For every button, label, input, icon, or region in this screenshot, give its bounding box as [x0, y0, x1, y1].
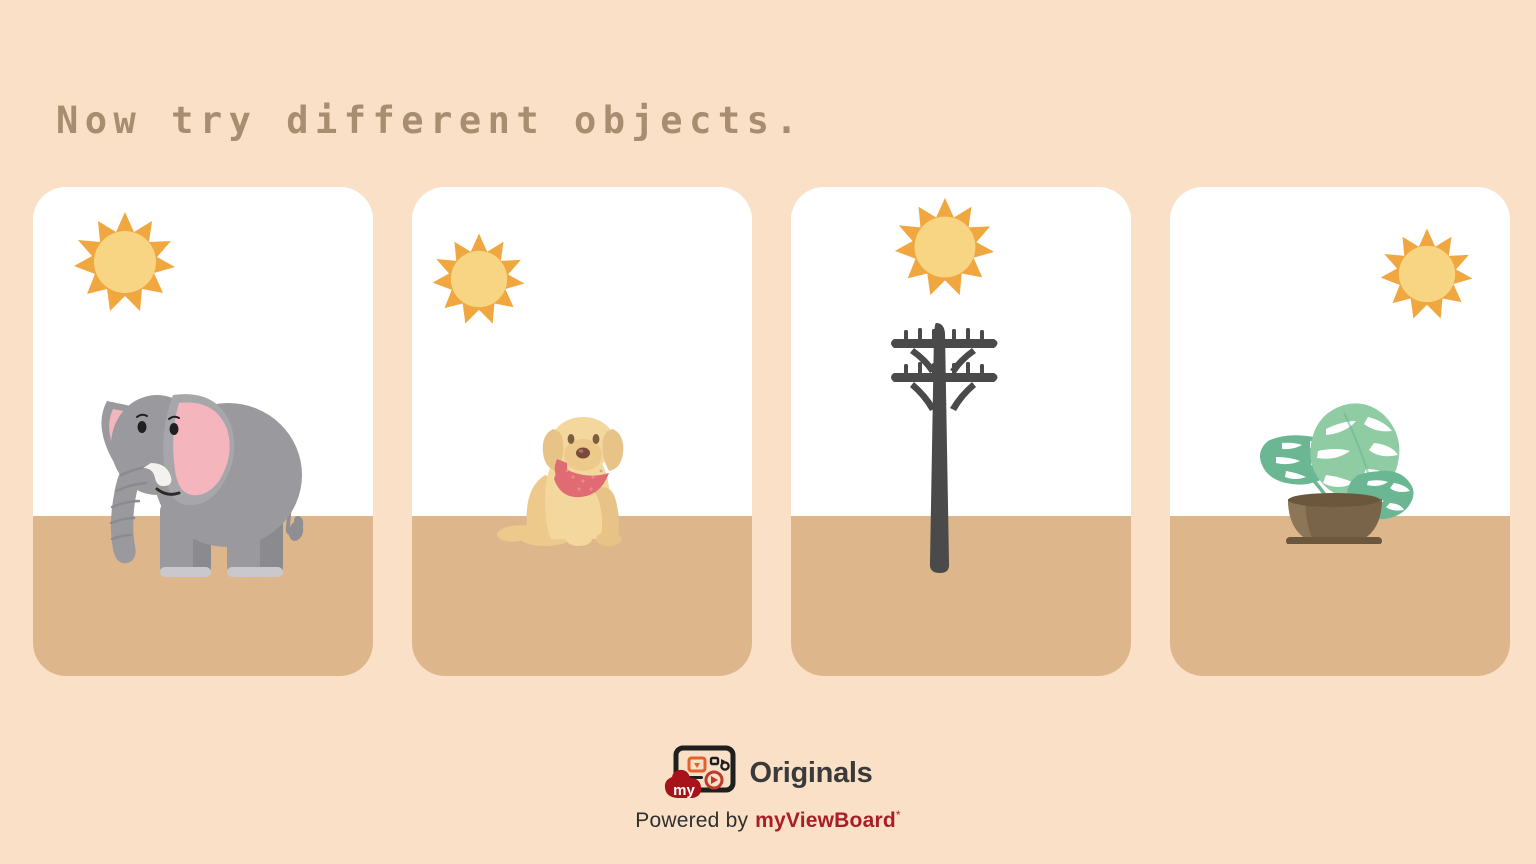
powered-by-label: Powered by [635, 809, 748, 833]
card-elephant[interactable] [33, 187, 373, 676]
object-card-list [33, 187, 1503, 676]
elephant-illustration [95, 383, 310, 578]
sun-icon [429, 229, 529, 329]
card-dog[interactable] [412, 187, 752, 676]
logo-badge-text: my [673, 782, 695, 799]
myviewboard-text: myViewBoard [755, 809, 896, 832]
originals-logo-icon: my [664, 745, 736, 801]
potted-plant-illustration [1252, 399, 1417, 544]
brand-name: Originals [750, 757, 873, 790]
brand-row: my Originals [664, 745, 873, 801]
trademark-mark: * [896, 808, 901, 822]
utility-pole-illustration [878, 317, 1008, 587]
footer-branding: my Originals Powered by myViewBoard* [0, 745, 1536, 833]
sun-icon [891, 193, 999, 301]
card-utility-pole[interactable] [791, 187, 1131, 676]
myviewboard-wordmark: myViewBoard* [755, 808, 901, 833]
dog-illustration [497, 415, 642, 547]
card-potted-plant[interactable] [1170, 187, 1510, 676]
sun-icon [70, 207, 180, 317]
sun-icon [1377, 224, 1477, 324]
powered-by-line: Powered by myViewBoard* [635, 808, 900, 833]
page-title: Now try different objects. [56, 99, 804, 142]
